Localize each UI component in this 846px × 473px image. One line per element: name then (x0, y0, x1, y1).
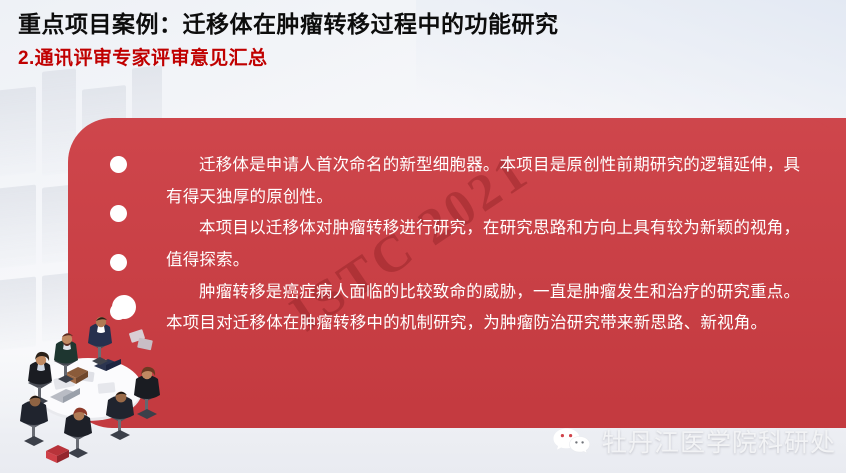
bullet-dot (110, 156, 127, 173)
slide-root: 重点项目案例：迁移体在肿瘤转移过程中的功能研究 2.通讯评审专家评审意见汇总 I… (0, 0, 846, 473)
bullet-dot (110, 254, 127, 271)
review-paragraph-3: 肿瘤转移是癌症病人面临的比较致命的威胁，一直是肿瘤发生和治疗的研究重点。本项目对… (166, 277, 814, 340)
review-comments-body: 迁移体是申请人首次命名的新型细胞器。本项目是原创性前期研究的逻辑延伸，具有得天独… (166, 150, 814, 340)
page-subtitle: 2.通讯评审专家评审意见汇总 (18, 48, 559, 71)
footer: 牡丹江医学院科研处 (552, 423, 836, 459)
review-paragraph-2: 本项目以迁移体对肿瘤转移进行研究，在研究思路和方向上具有较为新颖的视角，值得探索… (166, 213, 814, 276)
bullet-dot (110, 205, 127, 222)
isometric-meeting-illustration (2, 293, 198, 473)
footer-label: 牡丹江医学院科研处 (602, 423, 836, 459)
review-paragraph-1: 迁移体是申请人首次命名的新型细胞器。本项目是原创性前期研究的逻辑延伸，具有得天独… (166, 150, 814, 213)
heading-block: 重点项目案例：迁移体在肿瘤转移过程中的功能研究 2.通讯评审专家评审意见汇总 (18, 10, 559, 71)
page-title: 重点项目案例：迁移体在肿瘤转移过程中的功能研究 (18, 10, 559, 39)
wechat-icon (552, 426, 592, 456)
